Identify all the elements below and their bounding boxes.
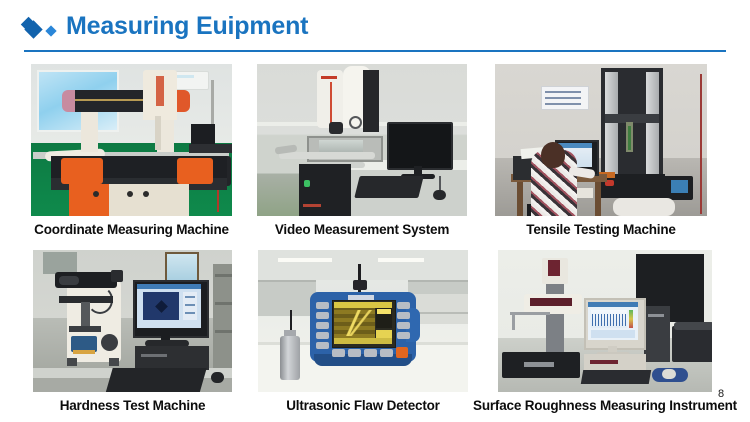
page-title: Measuring Euipment: [66, 12, 308, 41]
page-number: 8: [718, 388, 724, 400]
surface-roughness-measuring-instrument-photo: [498, 250, 712, 392]
slide: Measuring Euipment Coordinate Measuring …: [0, 0, 750, 422]
caption-surface-roughness-measuring-instrument: Surface Roughness Measuring Instrument: [473, 398, 737, 413]
video-measurement-system-photo: [257, 64, 467, 216]
ultrasonic-flaw-detector-photo: [258, 250, 468, 392]
coordinate-measuring-machine-photo: [31, 64, 232, 216]
header-divider: [24, 50, 726, 52]
hardness-test-machine-photo: [33, 250, 232, 392]
caption-tensile-testing-machine: Tensile Testing Machine: [526, 222, 675, 237]
double-diamond-icon: [27, 23, 61, 39]
tensile-testing-machine-photo: [495, 64, 707, 216]
caption-hardness-test-machine: Hardness Test Machine: [60, 398, 206, 413]
caption-video-measurement-system: Video Measurement System: [275, 222, 449, 237]
slide-header: Measuring Euipment: [0, 0, 750, 56]
caption-coordinate-measuring-machine: Coordinate Measuring Machine: [34, 222, 229, 237]
caption-ultrasonic-flaw-detector: Ultrasonic Flaw Detector: [286, 398, 440, 413]
